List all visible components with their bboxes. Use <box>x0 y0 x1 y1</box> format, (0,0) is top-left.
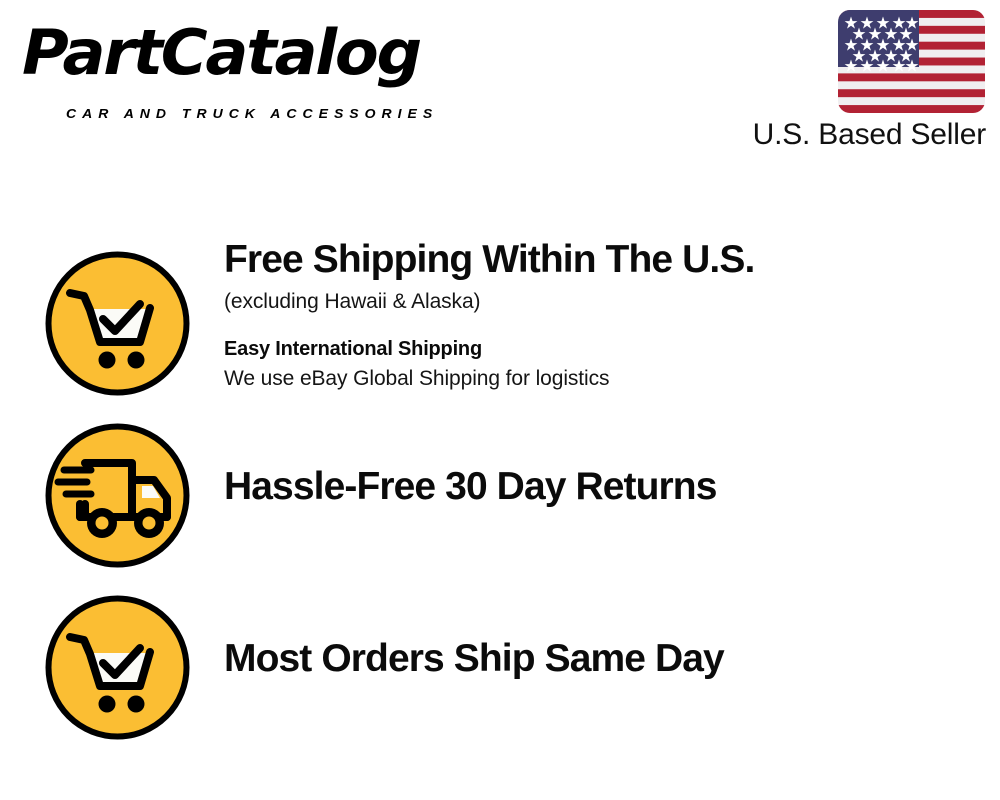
feature-row-returns: Hassle-Free 30 Day Returns <box>0 410 1000 582</box>
us-flag-icon <box>838 10 985 113</box>
brand-tagline: CAR AND TRUCK ACCESSORIES <box>66 106 438 121</box>
feature-text-same-day: Most Orders Ship Same Day <box>224 637 990 681</box>
shopping-cart-check-icon <box>44 250 191 397</box>
feature-subtext: We use eBay Global Shipping for logistic… <box>224 365 990 392</box>
shopping-cart-check-icon <box>44 594 191 741</box>
feature-note: (excluding Hawaii & Alaska) <box>224 288 990 316</box>
feature-heading: Most Orders Ship Same Day <box>224 637 990 681</box>
feature-text-free-shipping: Free Shipping Within The U.S. (excluding… <box>224 238 990 392</box>
partcatalog-logo: PartCatalog CAR AND TRUCK ACCESSORIES <box>22 22 492 117</box>
feature-heading: Hassle-Free 30 Day Returns <box>224 465 990 509</box>
delivery-truck-icon <box>44 422 191 569</box>
feature-list: Free Shipping Within The U.S. (excluding… <box>0 238 1000 754</box>
feature-heading: Free Shipping Within The U.S. <box>224 238 990 282</box>
feature-row-free-shipping: Free Shipping Within The U.S. (excluding… <box>0 238 1000 410</box>
promo-banner: PartCatalog CAR AND TRUCK ACCESSORIES <box>0 0 1000 800</box>
us-based-seller-label: U.S. Based Seller <box>753 118 986 152</box>
feature-row-same-day: Most Orders Ship Same Day <box>0 582 1000 754</box>
feature-text-returns: Hassle-Free 30 Day Returns <box>224 465 990 509</box>
brand-wordmark: PartCatalog <box>22 22 420 84</box>
feature-subheading: Easy International Shipping <box>224 336 990 362</box>
